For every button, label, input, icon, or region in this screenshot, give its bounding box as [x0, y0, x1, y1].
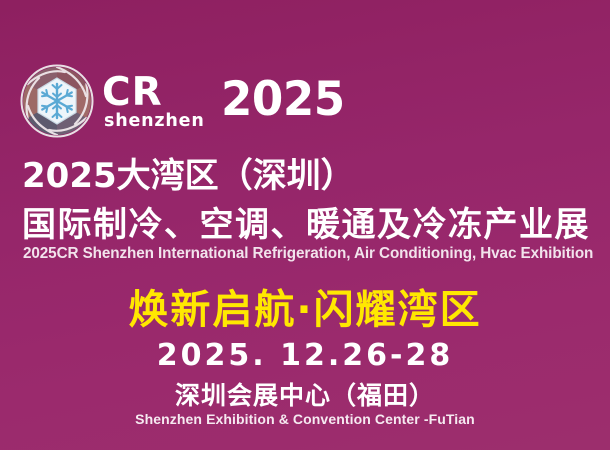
- logo-wordmark: CR shenzhen: [102, 65, 205, 137]
- exhibition-poster: CR shenzhen 2025 2025大湾区（深圳） 国际制冷、空调、暖通及…: [0, 0, 610, 450]
- event-venue-chinese: 深圳会展中心（福田）: [0, 376, 610, 412]
- title-line-2: 国际制冷、空调、暖通及冷冻产业展: [22, 197, 590, 246]
- event-date: 2025. 12.26-28: [0, 338, 610, 373]
- snowflake-aperture-logo-icon: [18, 62, 96, 140]
- logo-city-text: shenzhen: [104, 113, 205, 131]
- title-english-subtitle: 2025CR Shenzhen International Refrigerat…: [23, 245, 593, 263]
- logo-year-text: 2025: [221, 76, 345, 123]
- title-line-1: 2025大湾区（深圳）: [22, 148, 355, 197]
- slogan-text: 焕新启航·闪耀湾区: [0, 277, 610, 335]
- event-venue-english: Shenzhen Exhibition & Convention Center …: [0, 411, 610, 427]
- logo-lockup: CR shenzhen 2025: [18, 62, 349, 140]
- logo-brand-text: CR: [102, 74, 205, 112]
